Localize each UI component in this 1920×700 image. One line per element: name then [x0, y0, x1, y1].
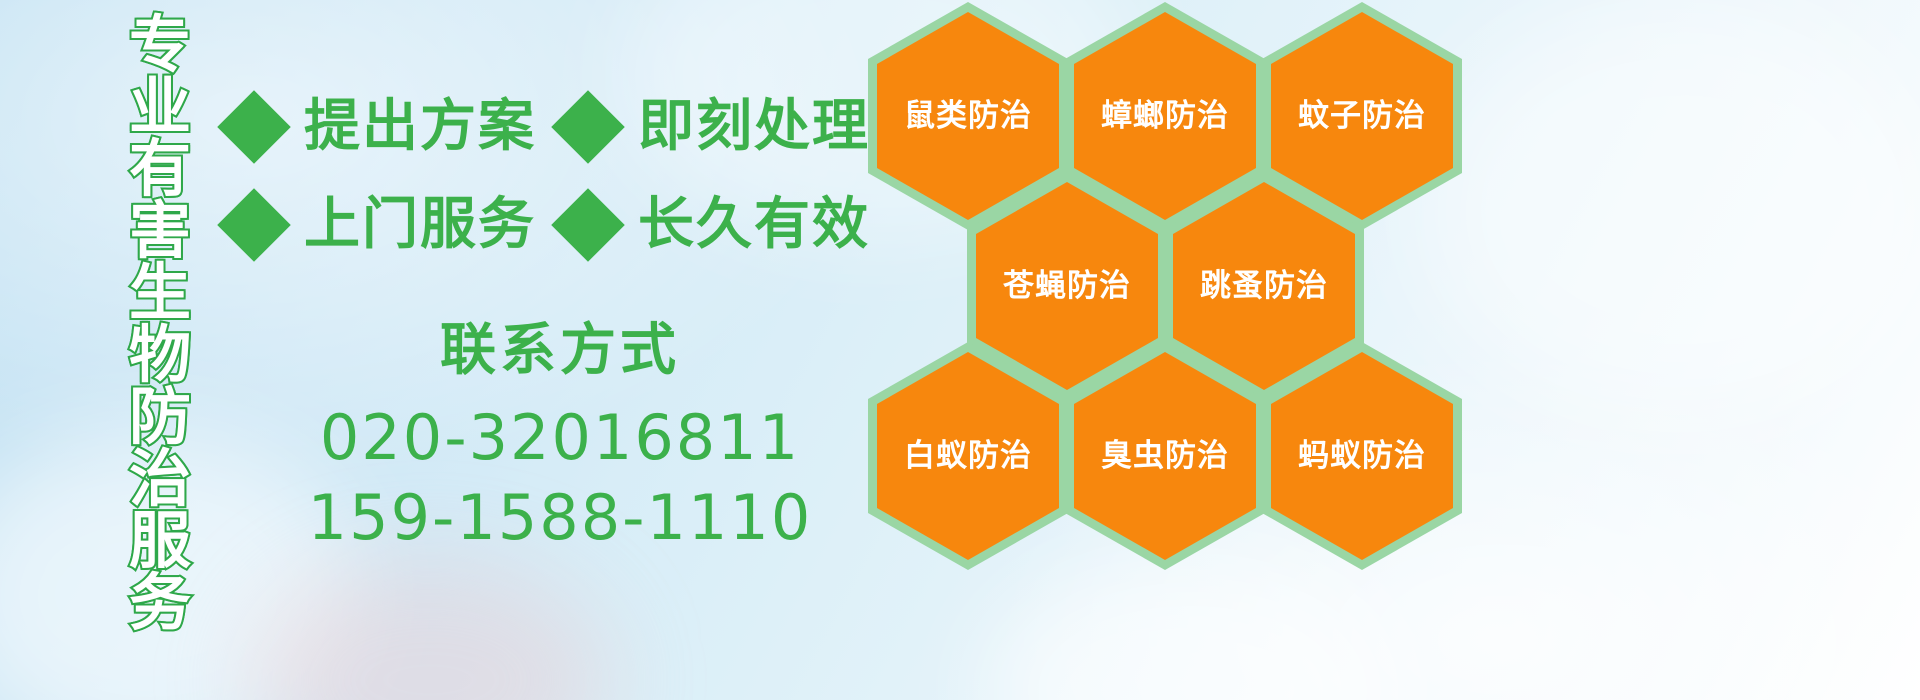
background-blob: [980, 560, 1400, 700]
contact-block: 联系方式 020-32016811 159-1588-1110: [300, 318, 820, 558]
vertical-headline-char: 治: [129, 448, 191, 510]
feature-row: 上门服务 长久有效: [228, 176, 868, 274]
vertical-headline-char: 务: [129, 572, 191, 634]
background-blob: [250, 560, 610, 700]
background-blob: [1420, 0, 1920, 420]
vertical-headline-char: 有: [129, 138, 191, 200]
vertical-headline-char: 服: [129, 510, 191, 572]
diamond-icon: [551, 188, 625, 262]
vertical-headline-char: 专: [129, 14, 191, 76]
service-label: 苍蝇防治: [1003, 269, 1131, 303]
service-label: 蚂蚁防治: [1298, 439, 1426, 473]
service-label: 蚊子防治: [1298, 99, 1426, 133]
diamond-icon: [217, 90, 291, 164]
phone-number-landline[interactable]: 020-32016811: [300, 398, 820, 478]
diamond-icon: [551, 90, 625, 164]
feature-item: 长久有效: [562, 197, 870, 253]
feature-label: 上门服务: [304, 197, 536, 253]
vertical-headline: 专 业 有 害 生 物 防 治 服 务: [108, 14, 212, 574]
feature-label: 提出方案: [304, 99, 536, 155]
feature-item: 即刻处理: [562, 99, 870, 155]
vertical-headline-char: 生: [129, 262, 191, 324]
diamond-icon: [217, 188, 291, 262]
vertical-headline-char: 害: [129, 200, 191, 262]
service-label: 跳蚤防治: [1200, 269, 1328, 303]
feature-item: 提出方案: [228, 99, 536, 155]
phone-number-mobile[interactable]: 159-1588-1110: [300, 478, 820, 558]
pest-control-banner: 专 业 有 害 生 物 防 治 服 务 提出方案 即刻处理 上门服务: [0, 0, 1920, 700]
vertical-headline-char: 业: [129, 76, 191, 138]
feature-label: 即刻处理: [638, 99, 870, 155]
feature-label: 长久有效: [638, 197, 870, 253]
feature-list: 提出方案 即刻处理 上门服务 长久有效: [228, 78, 868, 274]
service-label: 臭虫防治: [1101, 439, 1229, 473]
feature-item: 上门服务: [228, 197, 536, 253]
contact-heading: 联系方式: [300, 318, 820, 384]
vertical-headline-char: 物: [129, 324, 191, 386]
service-label: 蟑螂防治: [1101, 99, 1229, 133]
service-label: 白蚁防治: [904, 439, 1032, 473]
vertical-headline-char: 防: [129, 386, 191, 448]
service-label: 鼠类防治: [904, 99, 1032, 133]
feature-row: 提出方案 即刻处理: [228, 78, 868, 176]
service-honeycomb: 鼠类防治 蟑螂防治 蚊子防治 苍蝇防治 跳蚤防治 白蚁防治 臭虫防治 蚂蚁: [860, 0, 1480, 554]
